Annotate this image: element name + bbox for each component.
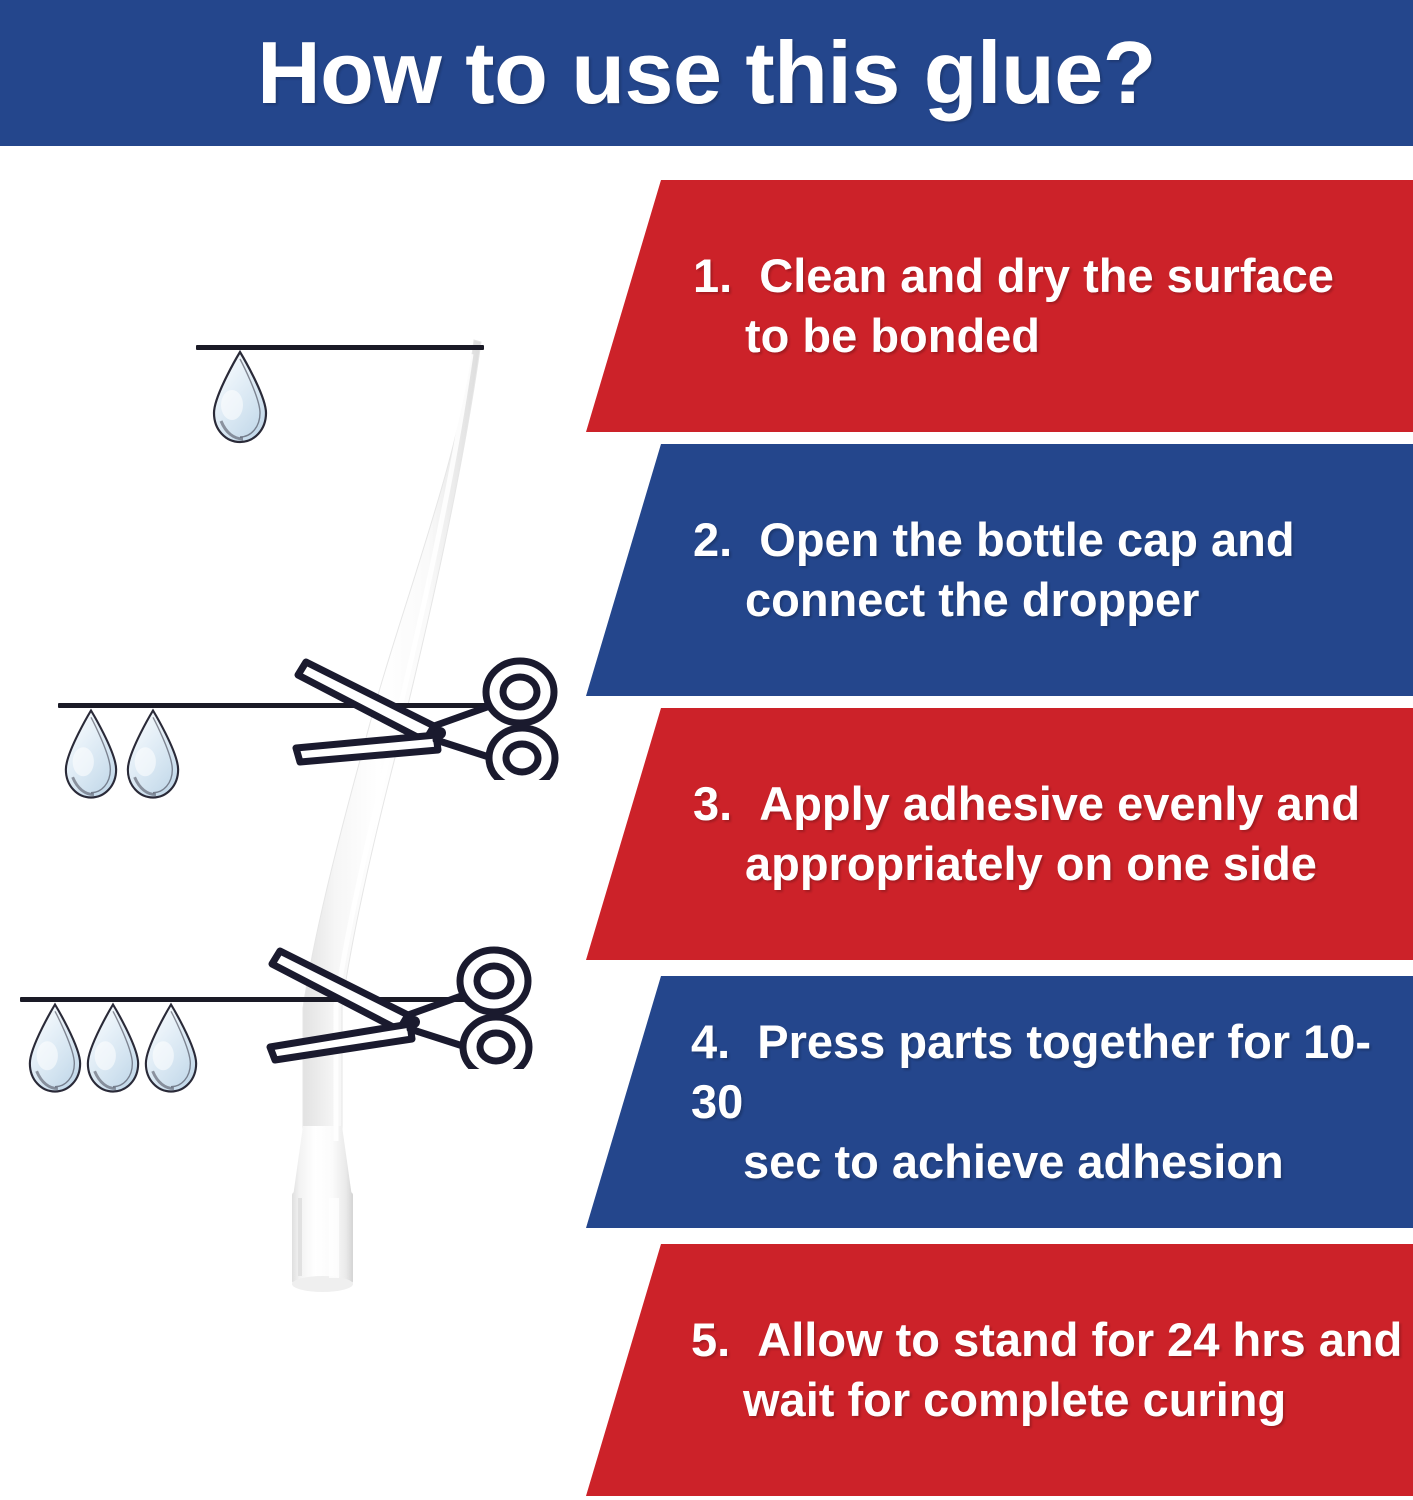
- scissors-icon: [258, 929, 548, 1069]
- illustration-area: [0, 146, 600, 1500]
- scissors-pivot: [408, 1016, 420, 1028]
- step-4-line1: Press parts together for 10-30: [691, 1015, 1371, 1128]
- glue-droplet: [210, 349, 270, 445]
- glue-droplet: [124, 707, 182, 801]
- glue-droplet: [142, 1001, 200, 1095]
- infographic-poster: How to use this glue?: [0, 0, 1413, 1500]
- step-4-number: 4.: [691, 1015, 730, 1068]
- step-3-line1: Apply adhesive evenly and: [759, 777, 1360, 830]
- step-banner-1[interactable]: 1. Clean and dry the surface to be bonde…: [573, 180, 1413, 432]
- step-5-line2: wait for complete curing: [743, 1373, 1286, 1426]
- step-banner-3[interactable]: 3. Apply adhesive evenly and appropriate…: [573, 708, 1413, 960]
- scissors-pivot: [434, 727, 446, 739]
- step-2-line1: Open the bottle cap and: [759, 513, 1294, 566]
- step-1-line1: Clean and dry the surface: [759, 249, 1334, 302]
- step-1-number: 1.: [693, 249, 732, 302]
- step-banner-2[interactable]: 2. Open the bottle cap and connect the d…: [573, 444, 1413, 696]
- step-banner-4[interactable]: 4. Press parts together for 10-30 sec to…: [573, 976, 1413, 1228]
- step-5-number: 5.: [691, 1313, 730, 1366]
- step-2-line2: connect the dropper: [745, 573, 1199, 626]
- glue-droplet: [62, 707, 120, 801]
- step-4-line2: sec to achieve adhesion: [743, 1135, 1284, 1188]
- glue-droplet: [84, 1001, 142, 1095]
- nozzle-base-bottom: [292, 1276, 353, 1292]
- step-1-line2: to be bonded: [745, 309, 1040, 362]
- scissors-icon: [284, 640, 574, 780]
- step-3-line2: appropriately on one side: [745, 837, 1317, 890]
- step-banner-5[interactable]: 5. Allow to stand for 24 hrs and wait fo…: [573, 1244, 1413, 1496]
- step-2-number: 2.: [693, 513, 732, 566]
- step-5-line1: Allow to stand for 24 hrs and: [757, 1313, 1402, 1366]
- step-3-number: 3.: [693, 777, 732, 830]
- header-banner: How to use this glue?: [0, 0, 1413, 146]
- page-title: How to use this glue?: [257, 29, 1156, 117]
- glue-droplet: [26, 1001, 84, 1095]
